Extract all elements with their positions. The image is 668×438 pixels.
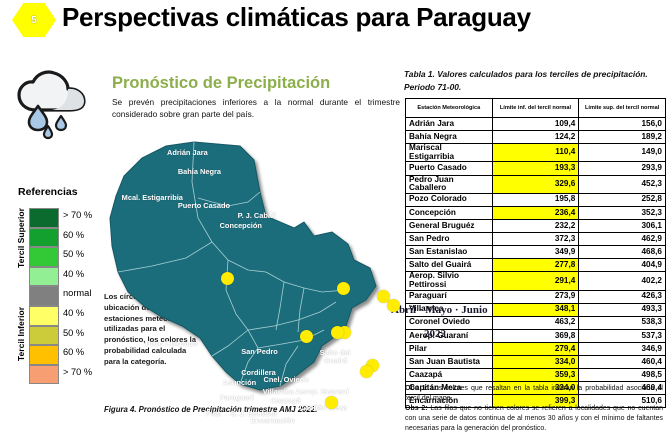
map-label: San Pedro [241, 347, 278, 356]
cell-upper-limit: 452,3 [579, 175, 666, 193]
table-row: Paraguarí273,9426,3 [406, 290, 666, 303]
legend-item: 60 % [29, 228, 59, 248]
cell-station: Aerop. Silvio Pettirossi [406, 272, 493, 290]
table-row: Bahía Negra124,2189,2 [406, 131, 666, 144]
cell-upper-limit: 404,9 [579, 259, 666, 272]
cell-station: Pilar [406, 342, 493, 355]
slide-root: 5 Perspectivas climáticas para Paraguay … [0, 0, 668, 438]
table-observations: Obs 1: Los colores que resaltan en la ta… [405, 384, 663, 434]
legend-item: normal [29, 286, 59, 306]
section-number-badge: 5 [12, 3, 56, 37]
cell-upper-limit: 306,1 [579, 219, 666, 232]
cell-upper-limit: 293,9 [579, 162, 666, 175]
cell-station: Puerto Casado [406, 162, 493, 175]
legend-color-swatch [29, 247, 59, 267]
legend-item: 50 % [29, 326, 59, 346]
legend-color-swatch [29, 228, 59, 248]
badge-number: 5 [12, 3, 56, 37]
col-upper-limit: Límite sup. del tercil normal [579, 99, 666, 118]
legend-color-swatch [29, 267, 59, 287]
map-label: Villarrica [263, 387, 294, 396]
cell-upper-limit: 468,6 [579, 246, 666, 259]
cell-station: Pedro Juan Caballero [406, 175, 493, 193]
observation-1: Obs 1: Los colores que resaltan en la ta… [405, 384, 663, 404]
map-label: Pozo Colorado [145, 339, 197, 348]
table-head: Estación Meteorológica Límite inf. del t… [406, 99, 666, 118]
map-label: Caazapá [271, 396, 301, 405]
cell-lower-limit: 110,4 [492, 144, 579, 162]
cell-lower-limit: 193,3 [492, 162, 579, 175]
cell-lower-limit: 232,2 [492, 219, 579, 232]
cell-lower-limit: 291,4 [492, 272, 579, 290]
legend-color-swatch [29, 345, 59, 365]
map-shape [108, 140, 398, 405]
cell-station: Aerop. Guaraní [406, 329, 493, 342]
header: 5 Perspectivas climáticas para Paraguay [0, 0, 668, 44]
cell-upper-limit: 346,9 [579, 342, 666, 355]
legend-color-swatch [29, 286, 59, 306]
cell-lower-limit: 369,8 [492, 329, 579, 342]
forecast-description: Se prevén precipitaciones inferiores a l… [112, 96, 400, 120]
cell-lower-limit: 349,9 [492, 246, 579, 259]
cell-upper-limit: 352,3 [579, 206, 666, 219]
map-label: Asunción [222, 378, 256, 387]
cell-lower-limit: 124,2 [492, 131, 579, 144]
cell-upper-limit: 538,3 [579, 316, 666, 329]
legend-title: Referencias [18, 186, 78, 198]
legend-color-swatch [29, 208, 59, 228]
legend-color-swatch [29, 326, 59, 346]
legend-item: 60 % [29, 345, 59, 365]
legend-color-swatch [29, 365, 59, 385]
legend: Tercil Superior Tercil Inferior > 70 %60… [8, 208, 108, 386]
cell-lower-limit: 329,6 [492, 175, 579, 193]
cell-lower-limit: 279,4 [492, 342, 579, 355]
station-dot[interactable] [331, 326, 344, 339]
map-label: Cnel. Oviedo [264, 375, 309, 384]
table-row: San Estanislao349,9468,6 [406, 246, 666, 259]
station-dot[interactable] [337, 282, 350, 295]
cell-lower-limit: 277,8 [492, 259, 579, 272]
table-row: Puerto Casado193,3293,9 [406, 162, 666, 175]
cell-upper-limit: 149,0 [579, 144, 666, 162]
map-label: Mcal. Estigarribia [122, 193, 183, 202]
cell-lower-limit: 273,9 [492, 290, 579, 303]
map-label: Guairá [324, 356, 347, 365]
table-row: Caazapá359,3498,5 [406, 369, 666, 382]
cell-upper-limit: 493,3 [579, 303, 666, 316]
forecast-period-months: Abril · Mayo · Junio [391, 304, 488, 316]
obs1-label: Obs 1: [405, 385, 428, 392]
map-label: Adrián Jara [167, 148, 208, 157]
cell-upper-limit: 156,0 [579, 118, 666, 131]
cell-lower-limit: 359,3 [492, 369, 579, 382]
cell-station: General Bruguéz [406, 219, 493, 232]
cell-lower-limit: 348,1 [492, 303, 579, 316]
paraguay-forecast-map[interactable]: Abril · Mayo · Junio 2022 Adrián JaraBah… [108, 140, 398, 405]
legend-item: 40 % [29, 306, 59, 326]
cell-upper-limit: 252,8 [579, 193, 666, 206]
map-label: Pilar [206, 409, 222, 418]
cell-lower-limit: 334,0 [492, 355, 579, 368]
observation-2: Obs 2: Las filas que no tienen colores s… [405, 404, 663, 434]
table-row: Aerop. Silvio Pettirossi291,4402,2 [406, 272, 666, 290]
cloud-rain-icon [12, 68, 98, 140]
cell-upper-limit: 462,9 [579, 233, 666, 246]
table-row: San Juan Bautista334,0460,4 [406, 355, 666, 368]
table-row: Pilar279,4346,9 [406, 342, 666, 355]
legend-group-labels: Tercil Superior Tercil Inferior [8, 208, 24, 386]
cell-station: Concepción [406, 206, 493, 219]
cell-station: Caazapá [406, 369, 493, 382]
cell-station: Coronel Oviedo [406, 316, 493, 329]
cell-station: San Pedro [406, 233, 493, 246]
cell-lower-limit: 463,2 [492, 316, 579, 329]
map-label: Bahía Negra [178, 167, 221, 176]
table-header-row: Estación Meteorológica Límite inf. del t… [406, 99, 666, 118]
cell-station: Bahía Negra [406, 131, 493, 144]
table-row: San Pedro372,3462,9 [406, 233, 666, 246]
cell-station: Adrián Jara [406, 118, 493, 131]
legend-swatches: > 70 %60 %50 %40 %normal40 %50 %60 %> 70… [29, 208, 59, 384]
col-station: Estación Meteorológica [406, 99, 493, 118]
cell-station: Paraguarí [406, 290, 493, 303]
map-label: Concepción [220, 221, 262, 230]
cell-station: Mariscal Estigarribia [406, 144, 493, 162]
obs2-text: Las filas que no tienen colores se refie… [405, 405, 663, 432]
forecast-period-year: 2022 [424, 328, 446, 340]
obs1-text: Los colores que resaltan en la tabla ind… [405, 385, 663, 402]
page-title: Perspectivas climáticas para Paraguay [62, 2, 531, 33]
cell-upper-limit: 537,3 [579, 329, 666, 342]
map-label: Capitán Meza [300, 403, 347, 412]
table-caption: Tabla 1. Valores calculados para los ter… [404, 68, 666, 93]
col-lower-limit: Límite inf. del tercil normal [492, 99, 579, 118]
cell-lower-limit: 236,4 [492, 206, 579, 219]
cell-station: San Juan Bautista [406, 355, 493, 368]
cell-lower-limit: 372,3 [492, 233, 579, 246]
legend-item: > 70 % [29, 365, 59, 385]
tercile-values-table: Estación Meteorológica Límite inf. del t… [405, 98, 666, 408]
cell-lower-limit: 195,8 [492, 193, 579, 206]
cell-lower-limit: 109,4 [492, 118, 579, 131]
map-label: Encarnación [251, 416, 295, 425]
map-label: Paraguarí [220, 393, 254, 402]
cell-upper-limit: 402,2 [579, 272, 666, 290]
legend-item: 50 % [29, 247, 59, 267]
table-row: General Bruguéz232,2306,1 [406, 219, 666, 232]
legend-item: > 70 % [29, 208, 59, 228]
cell-upper-limit: 189,2 [579, 131, 666, 144]
table-row: Pedro Juan Caballero329,6452,3 [406, 175, 666, 193]
table-row: Mariscal Estigarribia110,4149,0 [406, 144, 666, 162]
legend-color-swatch [29, 306, 59, 326]
map-label: Aerop. Guaraní [295, 387, 348, 396]
map-label: P. J. Caball [238, 211, 276, 220]
cell-upper-limit: 498,5 [579, 369, 666, 382]
cell-upper-limit: 426,3 [579, 290, 666, 303]
forecast-section-title: Pronóstico de Precipitación [112, 74, 330, 93]
station-dot[interactable] [325, 396, 338, 409]
obs2-label: Obs 2: [405, 405, 428, 412]
table-body: Adrián Jara109,4156,0Bahía Negra124,2189… [406, 118, 666, 408]
legend-item: 40 % [29, 267, 59, 287]
table-row: Pozo Colorado195,8252,8 [406, 193, 666, 206]
station-dot[interactable] [360, 365, 373, 378]
map-label: Puerto Casado [178, 201, 230, 210]
table-row: Concepción236,4352,3 [406, 206, 666, 219]
cell-station: Pozo Colorado [406, 193, 493, 206]
cell-station: Salto del Guairá [406, 259, 493, 272]
cell-upper-limit: 460,4 [579, 355, 666, 368]
table-row: Salto del Guairá277,8404,9 [406, 259, 666, 272]
table-row: Adrián Jara109,4156,0 [406, 118, 666, 131]
cell-station: San Estanislao [406, 246, 493, 259]
